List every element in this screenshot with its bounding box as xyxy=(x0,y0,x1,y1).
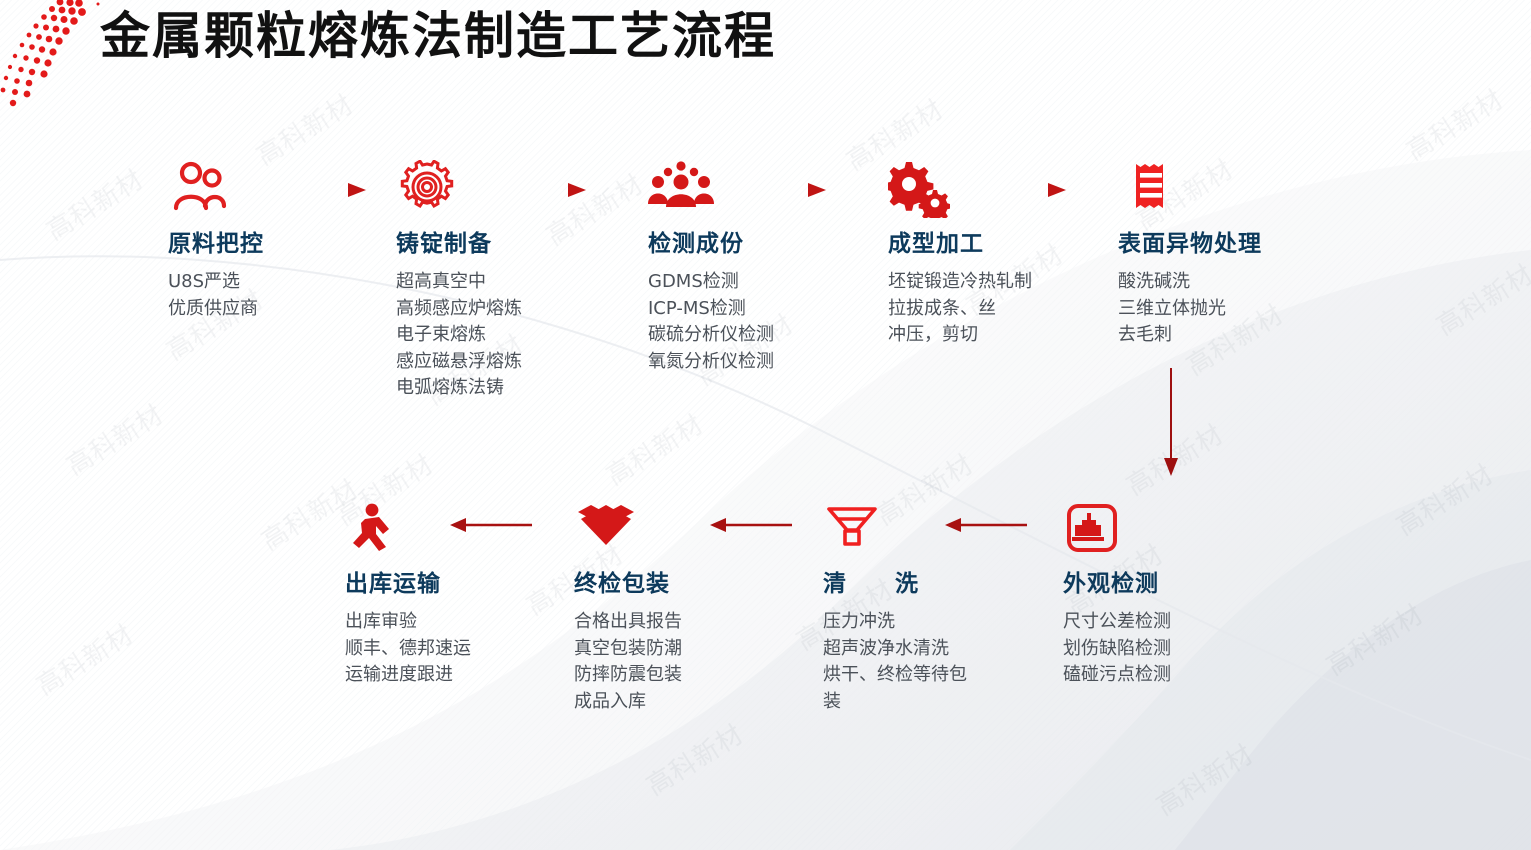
step-line: 烘干、终检等待包装 xyxy=(823,662,973,715)
step-line: 电子束熔炼 xyxy=(396,322,522,349)
step-detail-lines: 坯锭锻造冷热轧制 拉拔成条、丝 冲压，剪切 xyxy=(888,269,1032,349)
process-flow-diagram: 原料把控 U8S严选 优质供应商 铸锭制备 超高真空中 高频感应炉熔炼 电子束熔… xyxy=(0,0,1531,850)
step-title: 表面异物处理 xyxy=(1118,224,1262,258)
step-title: 外观检测 xyxy=(1063,564,1171,598)
document-list-icon xyxy=(1118,160,1180,218)
step-line: 合格出具报告 xyxy=(574,609,682,636)
step-title: 原料把控 xyxy=(168,224,264,258)
step-line: 出库审验 xyxy=(345,609,471,636)
flow-step-surface-treatment[interactable]: 表面异物处理 酸洗碱洗 三维立体抛光 去毛刺 xyxy=(1118,160,1262,349)
factory-inspect-icon xyxy=(1063,500,1121,558)
step-line: 超高真空中 xyxy=(396,269,522,296)
flow-step-raw-material[interactable]: 原料把控 U8S严选 优质供应商 xyxy=(168,160,264,322)
step-line: 尺寸公差检测 xyxy=(1063,609,1171,636)
step-line: 坯锭锻造冷热轧制 xyxy=(888,269,1032,296)
step-line: 酸洗碱洗 xyxy=(1118,269,1262,296)
two-cogs-icon xyxy=(888,160,950,218)
step-detail-lines: U8S严选 优质供应商 xyxy=(168,269,264,322)
people-group-icon xyxy=(648,160,714,218)
step-detail-lines: 出库审验 顺丰、德邦速运 运输进度跟进 xyxy=(345,609,471,689)
walking-person-icon xyxy=(345,500,399,558)
step-line: 成品入库 xyxy=(574,689,682,716)
step-detail-lines: 压力冲洗 超声波净水清洗 烘干、终检等待包装 xyxy=(823,609,973,715)
step-title: 检测成份 xyxy=(648,224,774,258)
step-title: 清 洗 xyxy=(823,564,973,598)
step-line: 优质供应商 xyxy=(168,296,264,323)
step-line: 碳硫分析仪检测 xyxy=(648,322,774,349)
flow-step-forming-processing[interactable]: 成型加工 坯锭锻造冷热轧制 拉拔成条、丝 冲压，剪切 xyxy=(888,160,1032,349)
step-line: U8S严选 xyxy=(168,269,264,296)
step-line: 电弧熔炼法铸 xyxy=(396,375,522,402)
step-line: 感应磁悬浮熔炼 xyxy=(396,349,522,376)
step-line: 防摔防震包装 xyxy=(574,662,682,689)
flow-arrow-right-2 xyxy=(518,180,588,200)
flow-step-cleaning[interactable]: 清 洗 压力冲洗 超声波净水清洗 烘干、终检等待包装 xyxy=(823,500,973,715)
step-line: 超声波净水清洗 xyxy=(823,636,973,663)
flow-step-appearance-inspection[interactable]: 外观检测 尺寸公差检测 划伤缺陷检测 磕碰污点检测 xyxy=(1063,500,1171,689)
flow-step-composition-test[interactable]: 检测成份 GDMS检测 ICP-MS检测 碳硫分析仪检测 氧氮分析仪检测 xyxy=(648,160,774,375)
flow-arrow-down xyxy=(1160,368,1182,478)
step-line: 真空包装防潮 xyxy=(574,636,682,663)
gear-target-icon xyxy=(396,160,458,218)
step-line: GDMS检测 xyxy=(648,269,774,296)
step-line: 压力冲洗 xyxy=(823,609,973,636)
step-title: 成型加工 xyxy=(888,224,1032,258)
step-line: 氧氮分析仪检测 xyxy=(648,349,774,376)
step-detail-lines: 酸洗碱洗 三维立体抛光 去毛刺 xyxy=(1118,269,1262,349)
step-title: 终检包装 xyxy=(574,564,682,598)
step-title: 出库运输 xyxy=(345,564,471,598)
flow-step-final-packaging[interactable]: 终检包装 合格出具报告 真空包装防潮 防摔防震包装 成品入库 xyxy=(574,500,682,715)
step-detail-lines: 合格出具报告 真空包装防潮 防摔防震包装 成品入库 xyxy=(574,609,682,715)
flow-step-shipping[interactable]: 出库运输 出库审验 顺丰、德邦速运 运输进度跟进 xyxy=(345,500,471,689)
two-people-icon xyxy=(168,160,230,218)
step-detail-lines: 尺寸公差检测 划伤缺陷检测 磕碰污点检测 xyxy=(1063,609,1171,689)
step-line: 磕碰污点检测 xyxy=(1063,662,1171,689)
funnel-filter-icon xyxy=(823,500,881,558)
step-line: 运输进度跟进 xyxy=(345,662,471,689)
step-line: 去毛刺 xyxy=(1118,322,1262,349)
step-line: 冲压，剪切 xyxy=(888,322,1032,349)
step-line: 三维立体抛光 xyxy=(1118,296,1262,323)
step-detail-lines: 超高真空中 高频感应炉熔炼 电子束熔炼 感应磁悬浮熔炼 电弧熔炼法铸 xyxy=(396,269,522,402)
step-line: 拉拔成条、丝 xyxy=(888,296,1032,323)
step-detail-lines: GDMS检测 ICP-MS检测 碳硫分析仪检测 氧氮分析仪检测 xyxy=(648,269,774,375)
flow-arrow-left-2 xyxy=(710,515,792,535)
step-line: 划伤缺陷检测 xyxy=(1063,636,1171,663)
step-title: 铸锭制备 xyxy=(396,224,522,258)
flow-step-ingot-preparation[interactable]: 铸锭制备 超高真空中 高频感应炉熔炼 电子束熔炼 感应磁悬浮熔炼 电弧熔炼法铸 xyxy=(396,160,522,402)
flow-arrow-right-1 xyxy=(298,180,368,200)
step-line: 顺丰、德邦速运 xyxy=(345,636,471,663)
step-line: 高频感应炉熔炼 xyxy=(396,296,522,323)
open-box-icon xyxy=(574,500,638,558)
step-line: ICP-MS检测 xyxy=(648,296,774,323)
